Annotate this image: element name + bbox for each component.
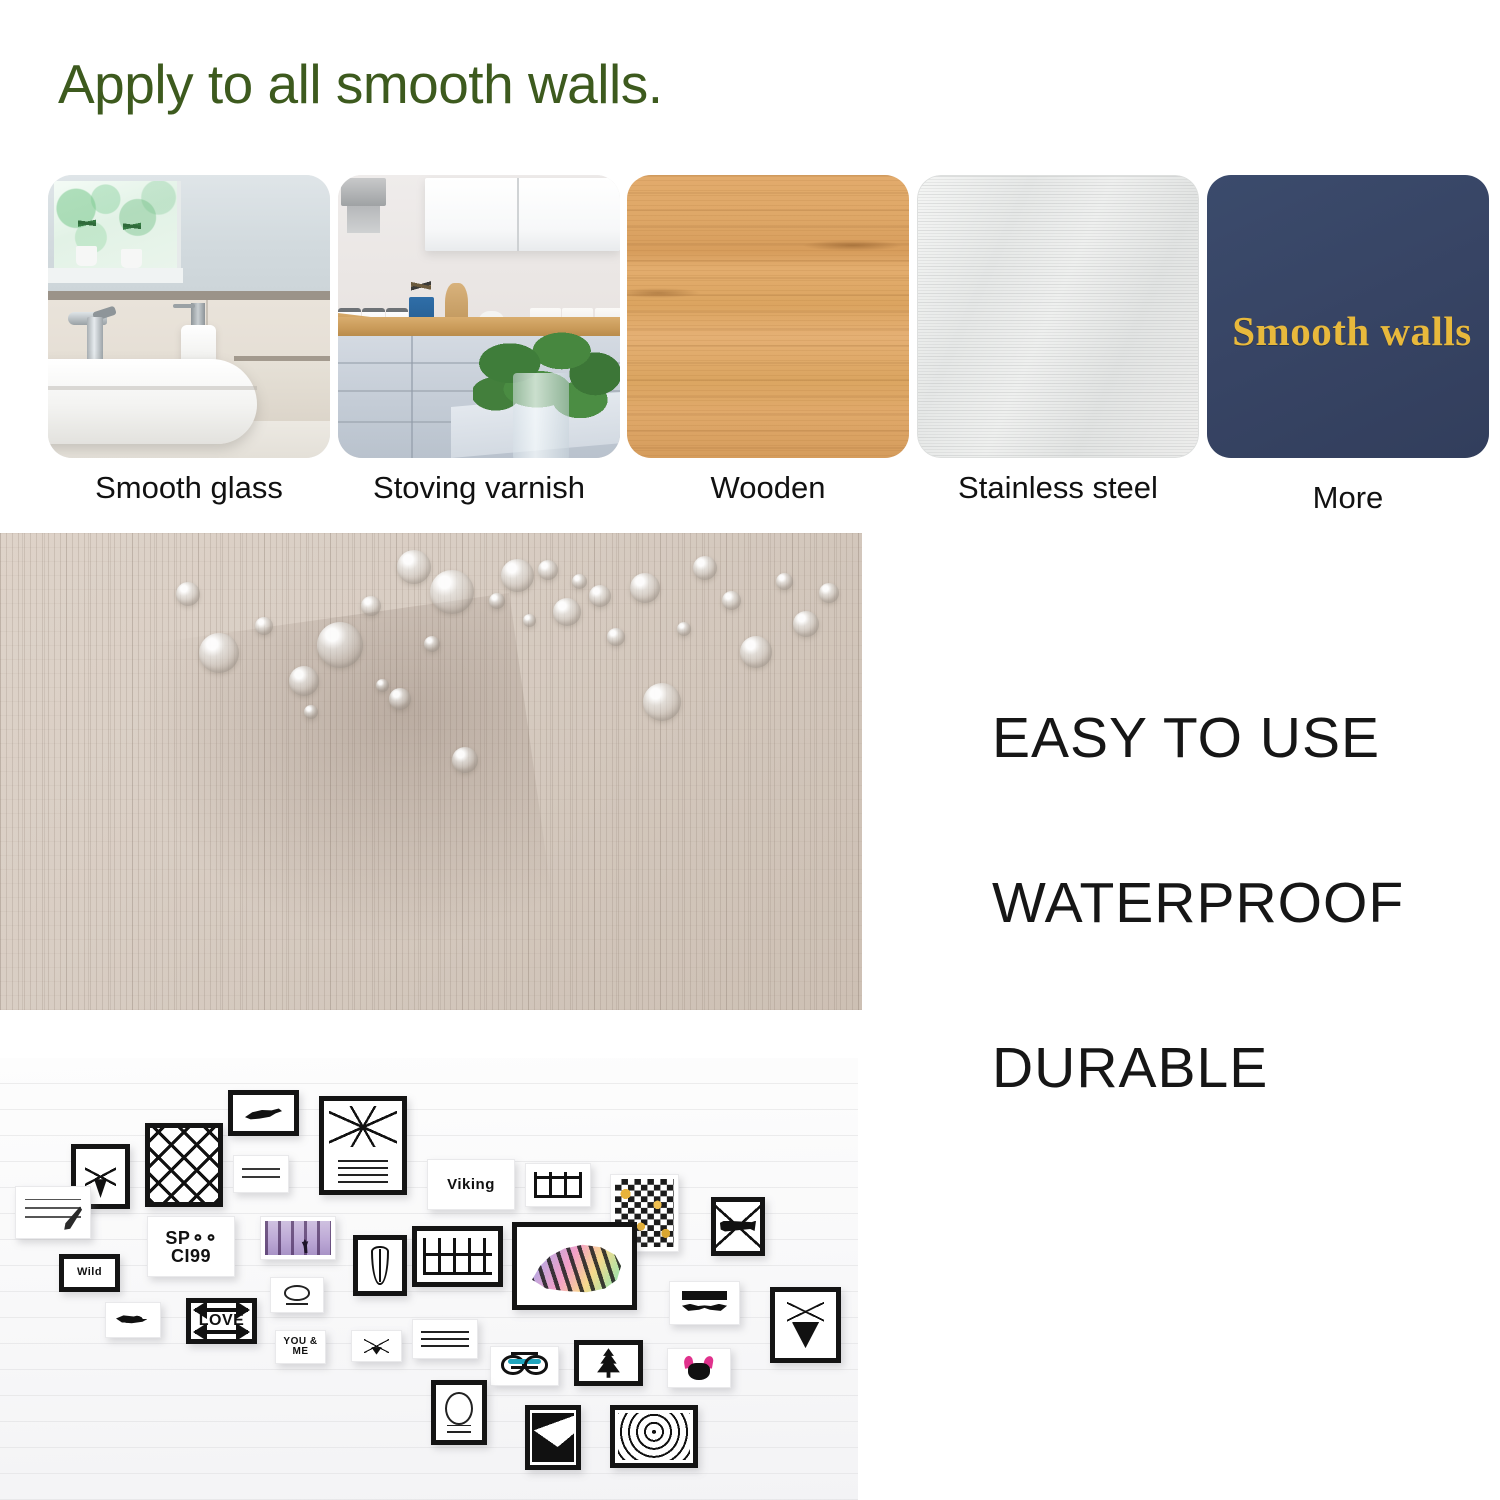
frame-artwork	[672, 1353, 726, 1383]
picture-frame	[353, 1235, 407, 1296]
frame-artwork	[775, 1292, 836, 1358]
frame-artwork: YOU & ME	[280, 1335, 321, 1359]
steel-texture-swatch	[917, 175, 1199, 458]
water-droplet	[589, 585, 611, 607]
product-infographic: Apply to all smooth walls.	[0, 0, 1500, 1500]
feature-easy-to-use: EASY TO USE	[992, 710, 1492, 767]
surface-tile-label: Stainless steel	[917, 470, 1199, 506]
surface-tile-row: Smooth glass	[0, 175, 1500, 520]
picture-frame	[260, 1216, 336, 1260]
water-droplet	[501, 559, 534, 592]
surface-tile-stainless-steel[interactable]: Stainless steel	[917, 175, 1207, 520]
picture-frame: YOU & ME	[275, 1330, 326, 1364]
water-droplet	[643, 683, 681, 721]
water-droplet	[538, 560, 558, 580]
water-droplet	[361, 596, 381, 616]
frame-artwork	[674, 1286, 735, 1320]
picture-frame: LOVE	[186, 1298, 257, 1344]
picture-frame	[412, 1226, 503, 1287]
picture-frame	[512, 1222, 637, 1310]
water-droplet	[630, 573, 660, 603]
water-droplet	[176, 582, 200, 606]
water-droplet	[389, 688, 411, 710]
picture-frame	[610, 1405, 698, 1468]
water-droplet	[722, 591, 741, 610]
frame-artwork	[615, 1410, 693, 1463]
kitchen-photo	[338, 175, 620, 458]
frame-artwork: SP⚬⚬CI99	[152, 1221, 230, 1272]
gallery-wall-photo: SP⚬⚬CI99WildLOVEYOU & MEViking	[0, 1058, 858, 1500]
water-droplet	[793, 611, 819, 637]
picture-frame	[15, 1186, 91, 1239]
surface-tile-wooden[interactable]: Wooden	[627, 175, 917, 520]
frame-artwork	[436, 1385, 482, 1440]
picture-frame	[490, 1346, 559, 1386]
picture-frame	[711, 1197, 765, 1256]
picture-frame	[574, 1340, 643, 1386]
water-droplet	[452, 747, 478, 773]
water-droplet	[289, 666, 319, 696]
picture-frame	[525, 1405, 581, 1470]
water-droplet	[489, 593, 505, 609]
frame-artwork	[20, 1191, 86, 1234]
feature-waterproof: WATERPROOF	[992, 875, 1492, 932]
water-droplet	[740, 636, 772, 668]
picture-frame	[669, 1281, 740, 1325]
frame-artwork	[150, 1128, 218, 1202]
water-droplet	[199, 633, 239, 673]
frame-artwork	[530, 1168, 586, 1202]
surface-tile-label: Smooth glass	[48, 470, 330, 506]
water-droplet	[677, 622, 691, 636]
water-droplet	[430, 570, 474, 614]
picture-frame	[770, 1287, 841, 1363]
picture-frame: SP⚬⚬CI99	[147, 1216, 235, 1277]
water-droplet	[553, 598, 581, 626]
surface-tile-label: Wooden	[627, 470, 909, 506]
frame-artwork	[233, 1095, 294, 1131]
water-droplet	[397, 550, 431, 584]
hook-demo-photo	[0, 533, 862, 1010]
picture-frame	[431, 1380, 487, 1445]
frame-artwork: Viking	[432, 1164, 510, 1205]
picture-frame	[233, 1155, 289, 1193]
picture-frame	[145, 1123, 223, 1207]
surface-tile-smooth-glass[interactable]: Smooth glass	[48, 175, 338, 520]
picture-frame	[228, 1090, 299, 1136]
navy-overlay-text: Smooth walls	[1182, 307, 1500, 355]
frame-artwork	[358, 1240, 402, 1291]
picture-frame	[105, 1302, 161, 1338]
water-droplet	[304, 705, 318, 719]
frame-artwork	[530, 1410, 576, 1465]
wood-texture-swatch	[627, 175, 909, 458]
frame-artwork	[238, 1160, 284, 1188]
frame-artwork	[417, 1324, 473, 1354]
frame-artwork	[517, 1227, 632, 1305]
frame-artwork: LOVE	[191, 1303, 252, 1339]
frame-artwork: Wild	[64, 1259, 115, 1287]
frame-artwork	[275, 1282, 319, 1308]
picture-frame	[667, 1348, 731, 1388]
page-title: Apply to all smooth walls.	[58, 52, 663, 116]
picture-frame: Wild	[59, 1254, 120, 1292]
picture-frame	[525, 1163, 591, 1207]
bathroom-photo	[48, 175, 330, 458]
water-droplet	[693, 556, 717, 580]
water-droplet	[523, 614, 536, 627]
frame-artwork	[356, 1335, 397, 1357]
water-droplet	[424, 636, 440, 652]
water-droplet	[376, 679, 389, 692]
surface-tile-label: More	[1207, 480, 1489, 516]
frame-artwork	[265, 1221, 331, 1255]
water-droplet	[317, 622, 363, 668]
feature-list: EASY TO USE WATERPROOF DURABLE	[992, 710, 1492, 1097]
water-droplet	[572, 574, 587, 589]
water-droplet	[255, 617, 273, 635]
frame-artwork	[579, 1345, 638, 1381]
picture-frame	[270, 1277, 324, 1313]
feature-durable: DURABLE	[992, 1040, 1492, 1097]
frame-artwork	[495, 1351, 554, 1381]
picture-frame	[319, 1096, 407, 1195]
frame-artwork	[110, 1307, 156, 1333]
water-droplet	[819, 583, 839, 603]
water-droplet	[776, 573, 793, 590]
surface-tile-more[interactable]: Smooth walls More	[1207, 175, 1497, 520]
picture-frame: Viking	[427, 1159, 515, 1210]
surface-tile-label: Stoving varnish	[338, 470, 620, 506]
frame-artwork	[324, 1101, 402, 1190]
frame-artwork	[716, 1202, 760, 1251]
water-droplet	[607, 628, 625, 646]
surface-tile-stoving-varnish[interactable]: Stoving varnish	[338, 175, 628, 520]
frame-artwork	[417, 1231, 498, 1282]
picture-frame	[412, 1319, 478, 1359]
picture-frame	[351, 1330, 402, 1362]
